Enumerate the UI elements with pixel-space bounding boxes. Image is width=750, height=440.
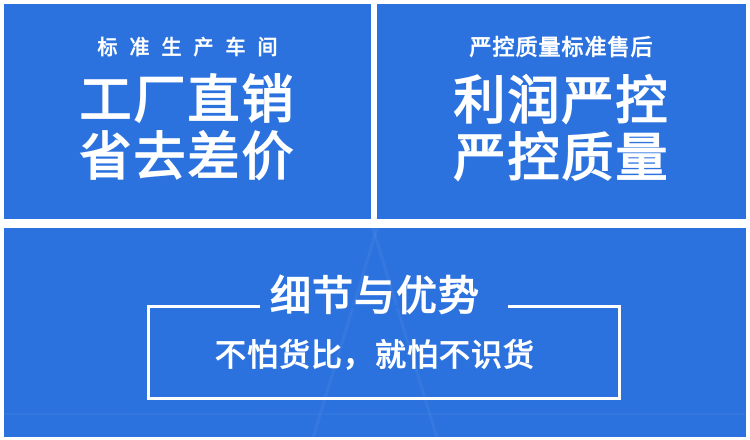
panel-quality-control: 严控质量标准售后 利润严控 严控质量	[377, 4, 746, 219]
panel-left-eyebrow: 标准生产车间	[4, 37, 371, 57]
feature-subtitle: 不怕货比，就怕不识货	[215, 340, 535, 371]
panel-left-headline-line1: 工厂直销	[4, 73, 371, 128]
panel-quality-control-content: 严控质量标准售后 利润严控 严控质量	[377, 36, 746, 186]
promo-banner: 标准生产车间 工厂直销 省去差价 严控质量标准售后 利润严控 严控质量 细节与优…	[0, 0, 750, 440]
panel-right-eyebrow: 严控质量标准售后	[377, 36, 746, 58]
panel-factory-direct-content: 标准生产车间 工厂直销 省去差价	[4, 37, 371, 185]
feature-title: 细节与优势	[270, 276, 480, 317]
panel-details-advantages: 细节与优势 不怕货比，就怕不识货	[4, 228, 746, 437]
panel-factory-direct: 标准生产车间 工厂直销 省去差价	[4, 4, 371, 219]
panel-left-headline-line2: 省去差价	[4, 131, 371, 186]
panel-right-headline-line1: 利润严控	[377, 74, 746, 129]
panel-right-headline-line2: 严控质量	[377, 132, 746, 187]
